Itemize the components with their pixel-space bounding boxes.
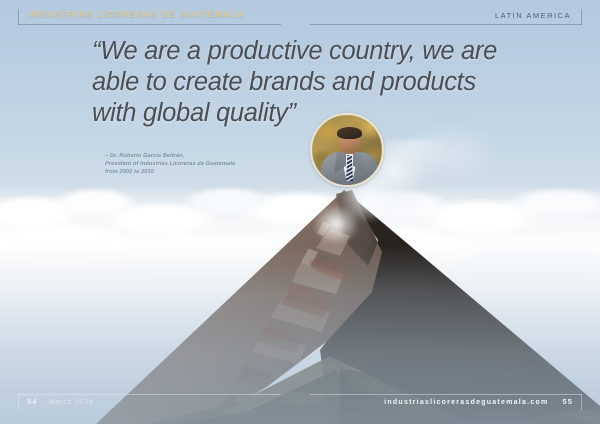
attribution-tenure: from 2002 to 2016	[105, 168, 235, 176]
header-region-label: LATIN AMERICA	[495, 11, 571, 20]
header-rule-left	[18, 24, 281, 25]
footer-page-number-right: 55	[562, 397, 573, 406]
footer-right-group: industriaslicorerasdeguatemala.com 55	[384, 397, 573, 406]
attribution-title: President of Industrias Licoreras de Gua…	[105, 160, 235, 168]
footer-website-url[interactable]: industriaslicorerasdeguatemala.com	[384, 399, 548, 406]
header-brand-title: INDUSTRIAS LICORERAS DE GUATEMALA	[29, 10, 244, 19]
attribution-name: – Dr. Roberto García Beltrán,	[105, 152, 235, 160]
pull-quote-line-3: with global quality”	[92, 98, 512, 129]
quote-attribution: – Dr. Roberto García Beltrán, President …	[105, 152, 235, 177]
footer-rule-tick-left	[18, 394, 19, 410]
portrait-hair	[337, 127, 362, 139]
header-rule-right	[310, 24, 582, 25]
pull-quote-line-1: “We are a productive country, we are	[92, 36, 512, 67]
footer-rule-left	[18, 394, 281, 395]
page-header: INDUSTRIAS LICORERAS DE GUATEMALA LATIN …	[0, 0, 600, 34]
header-rule-tick-right	[581, 9, 582, 25]
pull-quote: “We are a productive country, we are abl…	[92, 36, 512, 129]
footer-page-number-left: 54	[27, 397, 38, 406]
avatar	[310, 113, 384, 187]
footer-rule-right	[310, 394, 582, 395]
footer-issue-date: March 2016	[49, 399, 94, 406]
footer-rule-tick-right	[581, 394, 582, 410]
header-rule-tick-left	[18, 9, 19, 25]
pull-quote-line-2: able to create brands and products	[92, 67, 512, 98]
magazine-spread: INDUSTRIAS LICORERAS DE GUATEMALA LATIN …	[0, 0, 600, 424]
page-footer: 54 March 2016 industriaslicorerasdeguate…	[0, 380, 600, 424]
footer-left-group: 54 March 2016	[27, 397, 94, 406]
